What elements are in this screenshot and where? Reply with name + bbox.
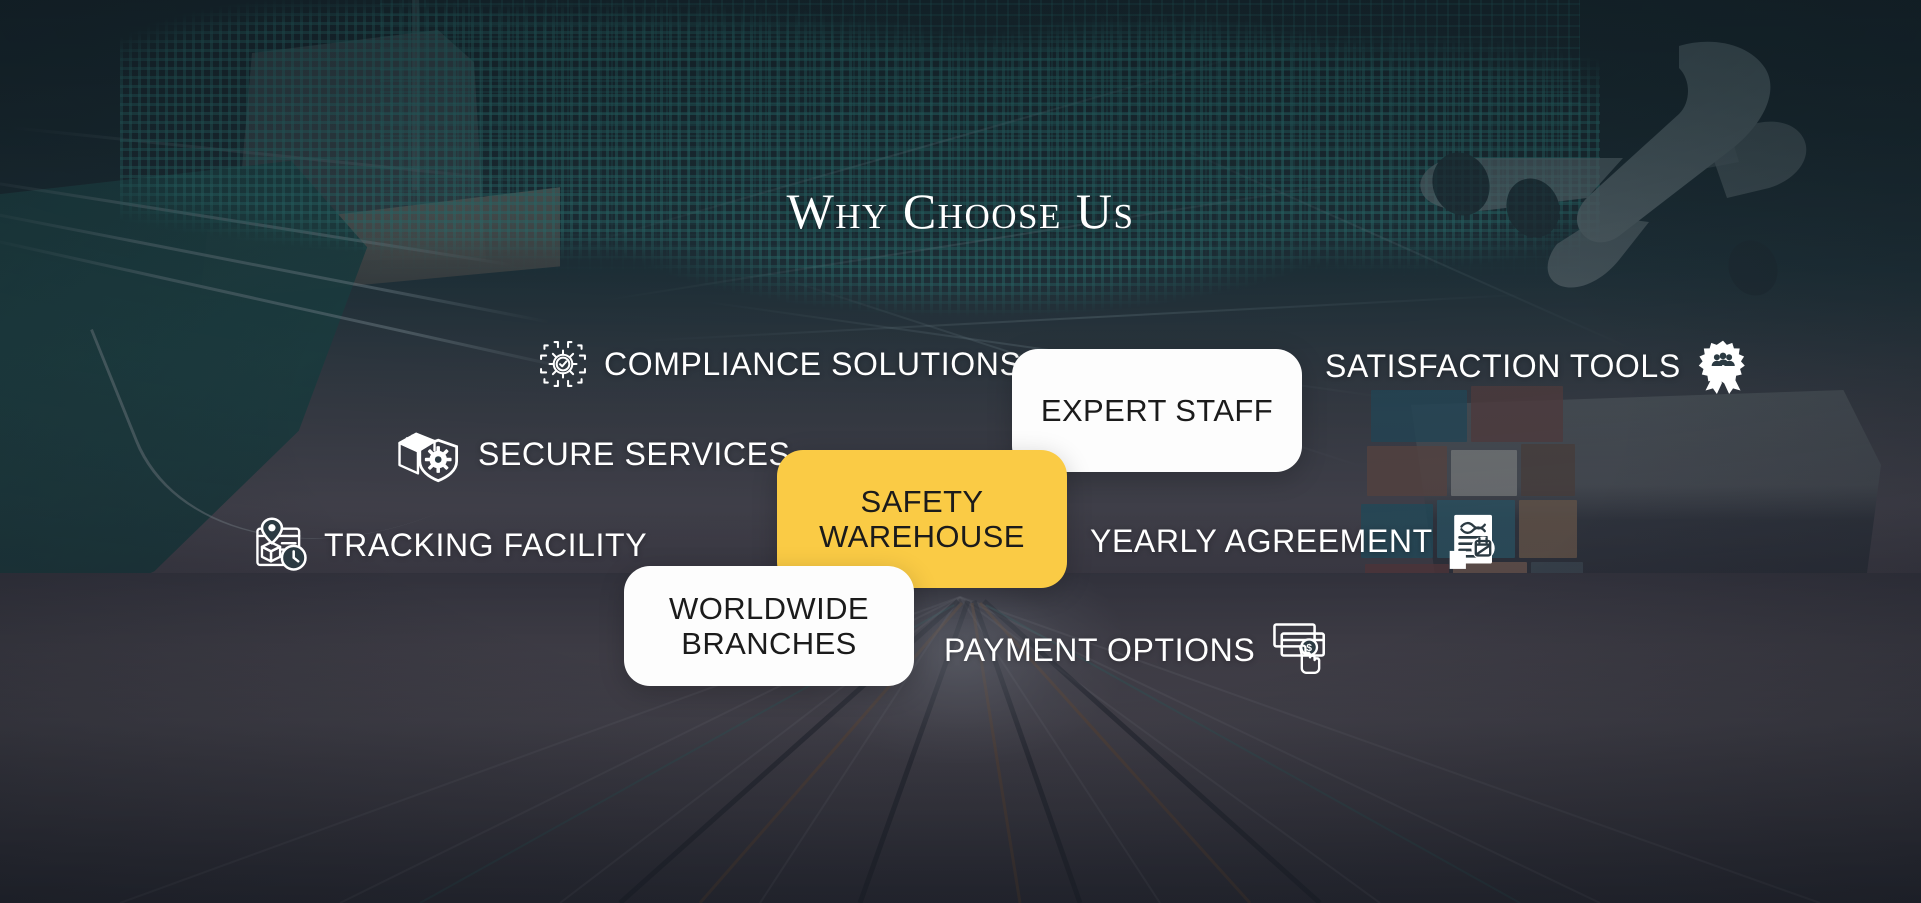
feature-worldwide-branches[interactable]: WORLDWIDE BRANCHES (624, 566, 914, 686)
feature-label: COMPLIANCE SOLUTIONS (604, 346, 1021, 383)
feature-label: YEARLY AGREEMENT (1090, 523, 1433, 560)
compliance-gear-check-icon (536, 337, 590, 391)
package-location-clock-icon (252, 516, 310, 574)
money-card-hand-cursor-icon: $ (1269, 619, 1331, 681)
feature-label-line-2: BRANCHES (681, 627, 856, 660)
box-shield-gear-icon (394, 424, 464, 484)
contract-document-calendar-icon (1447, 512, 1501, 570)
feature-label-line-2: WAREHOUSE (819, 520, 1025, 553)
feature-tracking-facility[interactable]: TRACKING FACILITY (252, 516, 647, 574)
feature-payment-options[interactable]: PAYMENT OPTIONS $ (944, 619, 1331, 681)
feature-yearly-agreement[interactable]: YEARLY AGREEMENT (1090, 512, 1501, 570)
why-choose-us-section: Why Choose Us (0, 0, 1921, 903)
feature-label: TRACKING FACILITY (324, 527, 647, 564)
feature-label: EXPERT STAFF (1041, 394, 1273, 427)
section-content: Why Choose Us (0, 0, 1921, 903)
feature-label: SATISFACTION TOOLS (1325, 348, 1681, 385)
feature-label-line-1: SAFETY (861, 485, 984, 518)
award-badge-ribbon-icon (1695, 338, 1751, 394)
feature-compliance-solutions[interactable]: COMPLIANCE SOLUTIONS (536, 337, 1021, 391)
feature-label-line-1: WORLDWIDE (669, 592, 869, 625)
feature-satisfaction-tools[interactable]: SATISFACTION TOOLS (1325, 338, 1751, 394)
feature-label: PAYMENT OPTIONS (944, 632, 1255, 669)
features-grid: COMPLIANCE SOLUTIONS EXPERT STAFF SATISF… (0, 0, 1921, 903)
feature-secure-services[interactable]: SECURE SERVICES (394, 424, 791, 484)
feature-label: SECURE SERVICES (478, 436, 791, 473)
